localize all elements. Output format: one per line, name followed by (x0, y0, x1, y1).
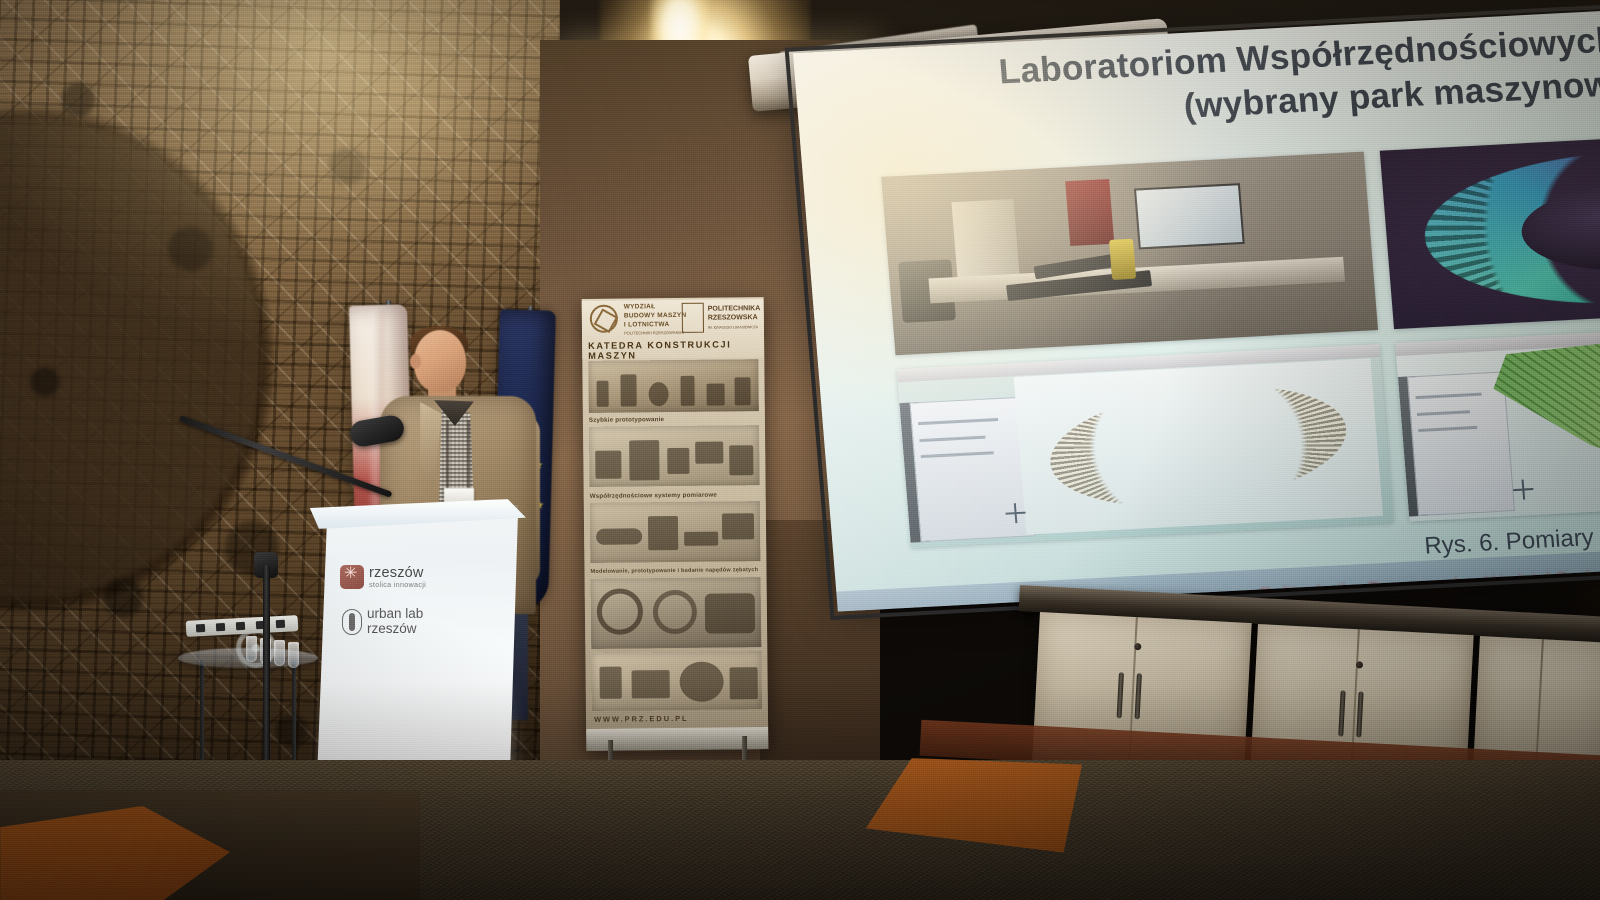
drinking-glass (246, 636, 257, 662)
cabinet-handle[interactable] (1338, 690, 1345, 736)
banner-gear (597, 588, 643, 634)
banner-gear (679, 662, 723, 702)
cabinet-lock[interactable] (1356, 661, 1363, 668)
power-socket (276, 620, 285, 628)
banner-gear (653, 590, 697, 634)
lab-scanner-probe (1109, 239, 1136, 280)
banner-object (599, 667, 621, 699)
param-row (920, 435, 986, 441)
banner-object (734, 377, 750, 405)
rzeszow-logo-icon (340, 565, 364, 589)
banner-object (596, 381, 608, 407)
param-row (918, 418, 998, 425)
lab-column (951, 199, 1020, 281)
urban-lab-logo: urban lab rzeszów (342, 607, 423, 636)
slide-panel-tooth-flank-deviation (1395, 318, 1600, 522)
banner-photo-gear-drives (591, 577, 762, 649)
banner-photo-prototyping (589, 425, 760, 487)
projection-screen-assembly: Laboratoriom Współrzędnościowych Technik… (742, 0, 1600, 616)
banner-object (620, 374, 636, 406)
tree-row (1417, 410, 1470, 416)
lab-red-banner (1066, 179, 1115, 246)
faculty-line2: BUDOWY MASZYN (624, 312, 687, 320)
banner-university-name: POLITECHNIKA RZESZOWSKA IM. IGNACEGO ŁUK… (708, 304, 761, 332)
rzeszow-logo-name: rzeszów (369, 566, 426, 581)
banner-model (667, 448, 689, 474)
power-socket (216, 623, 225, 631)
banner-section-label-1: Szybkie prototypowanie (589, 415, 759, 424)
drinking-glass (274, 640, 285, 666)
viewport-crosshair-icon (1004, 502, 1026, 523)
speaker-lanyard (446, 420, 470, 490)
banner-monitor (695, 441, 723, 463)
banner-printer (595, 451, 621, 479)
banner-monitor (722, 513, 754, 539)
banner-printer (629, 440, 659, 480)
drinking-glass (288, 642, 299, 668)
banner-scanner (596, 528, 642, 544)
banner-section-label-3: Modelowanie, prototypowanie i badanie na… (590, 567, 760, 575)
banner-object (707, 383, 725, 405)
university-line1: POLITECHNIKA (708, 305, 761, 313)
banner-photo-models (588, 359, 759, 413)
slide-panel-scan-gear-ring (1379, 125, 1600, 329)
banner-shelf (729, 445, 753, 475)
slide-title: Laboratoriom Współrzędnościowych Technik… (834, 0, 1600, 147)
banner-photo-testrig (591, 651, 762, 711)
faculty-line1: WYDZIAŁ (624, 303, 656, 310)
presentation-room-photo: Laboratoriom Współrzędnościowych Technik… (0, 0, 1600, 900)
lab-monitor (1134, 183, 1245, 249)
banner-faculty-name: WYDZIAŁ BUDOWY MASZYN I LOTNICTWA POLITE… (624, 303, 687, 339)
rzeszow-logo-tagline: stolica innowacji (369, 581, 426, 589)
banner-probe (648, 516, 678, 550)
banner-section-label-2: Współrzędnościowe systemy pomiarowe (590, 491, 760, 500)
projection-screen: Laboratoriom Współrzędnościowych Technik… (793, 0, 1600, 612)
param-row (921, 452, 994, 459)
urban-lab-line2: rzeszów (367, 622, 423, 637)
cabinet-handle[interactable] (1135, 673, 1142, 719)
urban-lab-logo-icon (342, 609, 362, 635)
university-line2: RZESZOWSKA (708, 314, 758, 322)
rzeszow-city-logo: rzeszów stolica innowacji (340, 565, 426, 589)
banner-object (632, 670, 670, 698)
banner-object (649, 382, 669, 406)
faculty-line3: I LOTNICTWA (624, 321, 670, 328)
cabinet-handle[interactable] (1117, 672, 1124, 718)
university-logo-icon (682, 303, 704, 333)
power-socket (236, 622, 245, 630)
rollup-banner: WYDZIAŁ BUDOWY MASZYN I LOTNICTWA POLITE… (582, 297, 769, 751)
slide-panel-gold-bevel-gear-model (897, 344, 1394, 548)
power-socket (196, 624, 205, 632)
slide-image-grid (881, 99, 1600, 547)
cabinet-lock[interactable] (1134, 643, 1141, 650)
urban-lab-line1: urban lab (367, 607, 423, 622)
cabinet-handle[interactable] (1356, 691, 1363, 737)
tree-row (1418, 426, 1477, 432)
banner-gearbox (705, 593, 755, 634)
university-sub: IM. IGNACEGO ŁUKASIEWICZA (708, 325, 758, 330)
banner-keyboard (684, 532, 718, 546)
banner-website-url: WWW.PRZ.EDU.PL (594, 714, 689, 724)
banner-department: KATEDRA KONSTRUKCJI MASZYN (588, 339, 764, 361)
tree-row (1415, 393, 1481, 399)
banner-object (680, 376, 694, 406)
faculty-logo-icon (590, 305, 618, 333)
banner-object (730, 667, 758, 699)
banner-photo-cmm (590, 501, 761, 563)
faculty-sub: POLITECHNIKI RZESZOWSKIEJ (624, 330, 684, 336)
viewport-crosshair-icon (1512, 479, 1534, 500)
speaker-ear (410, 354, 421, 369)
software-tree-panel (1407, 371, 1515, 515)
speaker-head (414, 330, 466, 392)
slide-panel-lab-photograph (881, 152, 1378, 356)
